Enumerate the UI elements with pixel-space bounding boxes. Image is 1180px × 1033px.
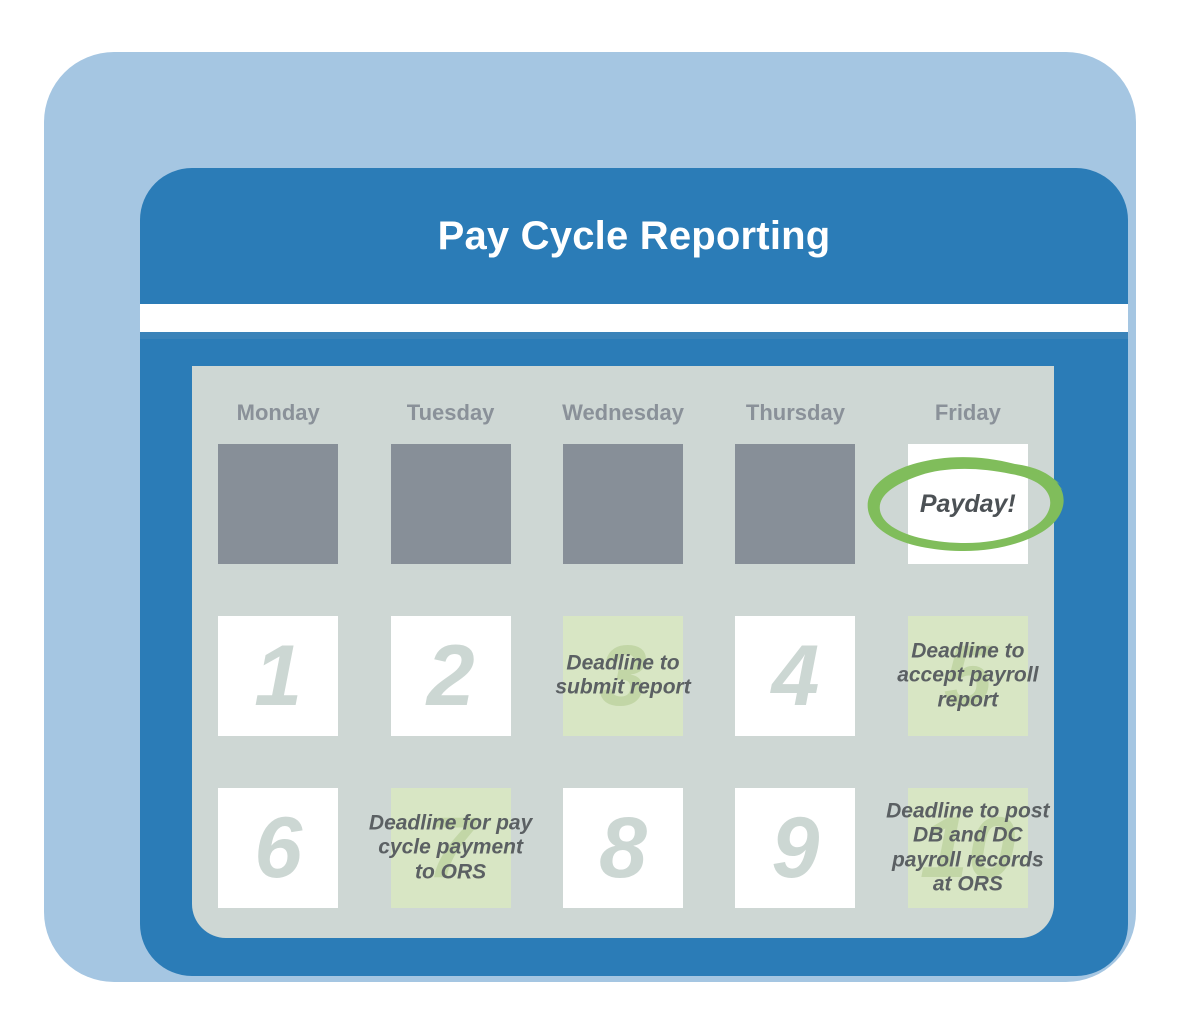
calendar-cell-payday[interactable]: Payday!: [908, 444, 1028, 564]
weekday-header-monday: Monday: [192, 400, 364, 438]
calendar-cell-day[interactable]: 4: [735, 616, 855, 736]
calendar-cell-deadline[interactable]: 5Deadline to accept payroll report: [908, 616, 1028, 736]
calendar-slot: 3Deadline to submit report: [537, 614, 709, 738]
calendar-cell-day[interactable]: 6: [218, 788, 338, 908]
weekday-header-thursday: Thursday: [709, 400, 881, 438]
deadline-note: Deadline to submit report: [541, 652, 705, 701]
outer-frame: Pay Cycle Reporting Monday Tuesday Wedne…: [44, 52, 1136, 982]
calendar-row: 67Deadline for pay cycle payment to ORS8…: [192, 786, 1054, 910]
deadline-note: Deadline to accept payroll report: [886, 639, 1050, 712]
calendar-cell-day[interactable]: 8: [563, 788, 683, 908]
calendar-slot: [709, 442, 881, 566]
header-bar: Pay Cycle Reporting: [140, 168, 1128, 304]
calendar-cell-deadline[interactable]: 10Deadline to post DB and DC payroll rec…: [908, 788, 1028, 908]
calendar-cell-deadline[interactable]: 7Deadline for pay cycle payment to ORS: [391, 788, 511, 908]
calendar-slot: [192, 442, 364, 566]
deadline-note: Deadline to post DB and DC payroll recor…: [886, 799, 1050, 896]
calendar-row: 123Deadline to submit report45Deadline t…: [192, 614, 1054, 738]
calendar-slot: 5Deadline to accept payroll report: [882, 614, 1054, 738]
calendar-slot: Payday!: [882, 442, 1054, 566]
calendar-cell-day[interactable]: 1: [218, 616, 338, 736]
day-number: 4: [735, 633, 855, 719]
calendar-slot: 9: [709, 786, 881, 910]
calendar-window: Pay Cycle Reporting Monday Tuesday Wedne…: [140, 168, 1128, 976]
calendar-cell-empty[interactable]: [218, 444, 338, 564]
calendar-cell-day[interactable]: 9: [735, 788, 855, 908]
payday-label: Payday!: [920, 490, 1016, 519]
calendar-slot: 8: [537, 786, 709, 910]
calendar-cell-empty[interactable]: [391, 444, 511, 564]
weekday-header-wednesday: Wednesday: [537, 400, 709, 438]
calendar-cell-deadline[interactable]: 3Deadline to submit report: [563, 616, 683, 736]
weekday-header-tuesday: Tuesday: [364, 400, 536, 438]
calendar-slot: 10Deadline to post DB and DC payroll rec…: [882, 786, 1054, 910]
deadline-note: Deadline for pay cycle payment to ORS: [369, 811, 533, 884]
calendar-slot: 4: [709, 614, 881, 738]
calendar-cell-empty[interactable]: [735, 444, 855, 564]
day-number: 6: [218, 805, 338, 891]
calendar-cell-empty[interactable]: [563, 444, 683, 564]
calendar-slot: 7Deadline for pay cycle payment to ORS: [364, 786, 536, 910]
weekday-header-row: Monday Tuesday Wednesday Thursday Friday: [192, 400, 1054, 438]
calendar-panel: Monday Tuesday Wednesday Thursday Friday…: [192, 366, 1054, 938]
day-number: 9: [735, 805, 855, 891]
calendar-slot: [537, 442, 709, 566]
weekday-header-friday: Friday: [882, 400, 1054, 438]
calendar-slot: 1: [192, 614, 364, 738]
header-divider: [140, 304, 1128, 332]
calendar-row: Payday!: [192, 442, 1054, 566]
day-number: 8: [563, 805, 683, 891]
calendar-slot: 6: [192, 786, 364, 910]
calendar-slot: [364, 442, 536, 566]
calendar-slot: 2: [364, 614, 536, 738]
calendar-cell-day[interactable]: 2: [391, 616, 511, 736]
header-underline: [140, 332, 1128, 339]
day-number: 2: [391, 633, 511, 719]
page-title: Pay Cycle Reporting: [438, 214, 831, 259]
day-number: 1: [218, 633, 338, 719]
